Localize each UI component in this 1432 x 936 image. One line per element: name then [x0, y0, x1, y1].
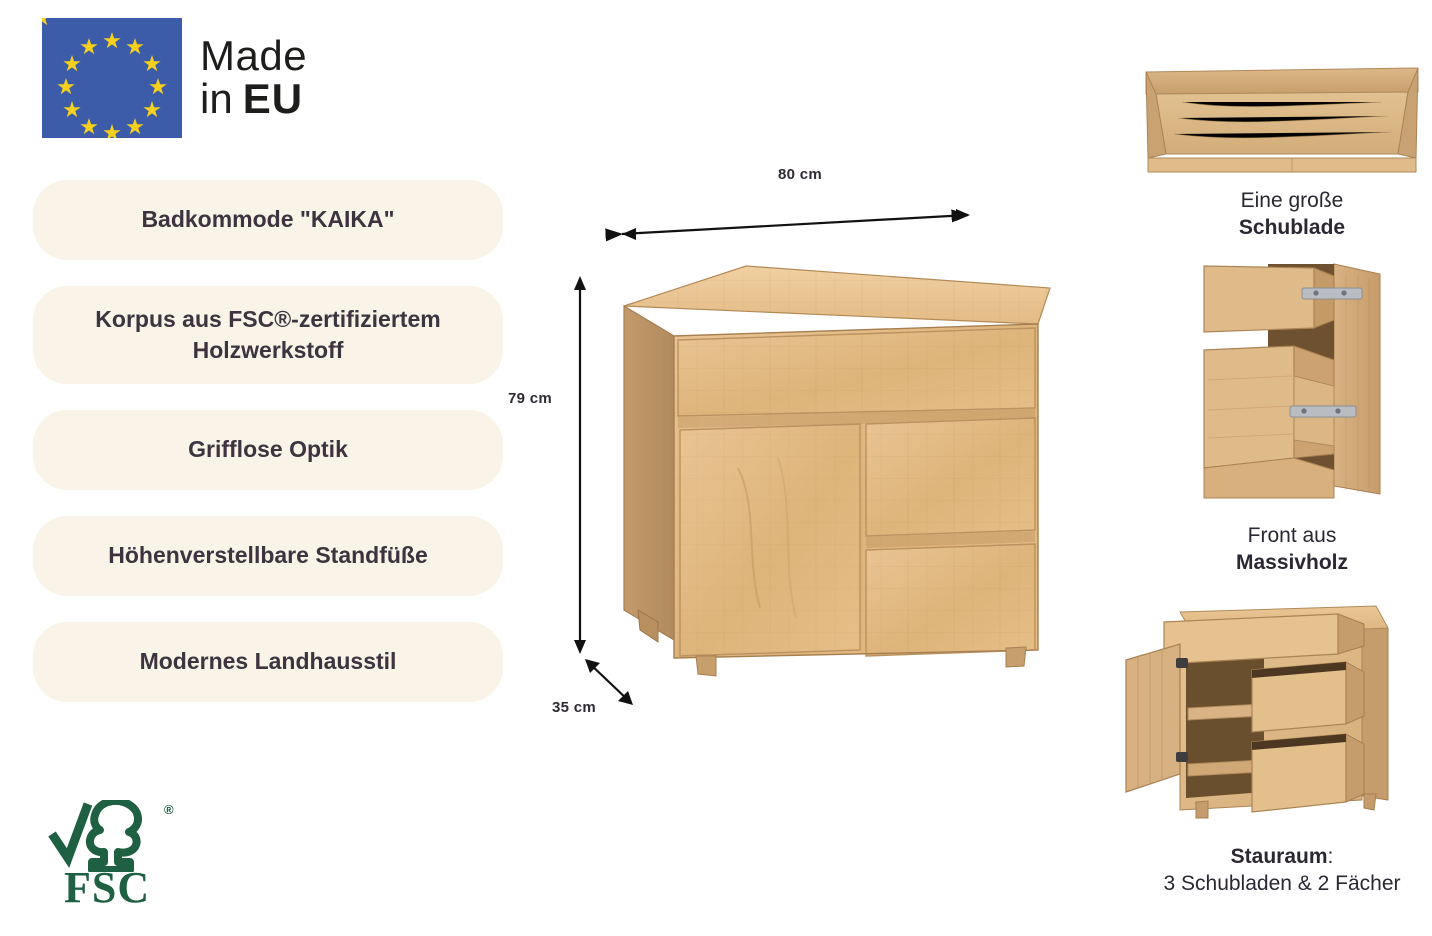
- made-in-eu-text: Made in EU: [200, 35, 307, 121]
- detail-caption: Stauraum: 3 Schubladen & 2 Fächer: [1132, 844, 1432, 898]
- feature-pill-list: Badkommode "KAIKA" Korpus aus FSC®-zerti…: [33, 180, 503, 702]
- dimension-height-label: 79 cm: [508, 390, 552, 407]
- feature-pill: Grifflose Optik: [33, 410, 503, 490]
- feature-pill: Korpus aus FSC®-zertifiziertem Holzwerks…: [33, 286, 503, 384]
- detail-caption-bold: Stauraum: [1231, 845, 1328, 868]
- feature-pill: Badkommode "KAIKA": [33, 180, 503, 260]
- cabinet-drawing: [618, 258, 1058, 678]
- eu-flag-icon: [42, 18, 182, 138]
- detail-caption-line1: Stauraum:: [1132, 844, 1432, 871]
- open-cabinet-storage-photo: [1124, 596, 1424, 828]
- made-in-eu-badge: Made in EU: [42, 18, 307, 138]
- detail-caption-colon: :: [1328, 845, 1334, 868]
- feature-pill-label: Grifflose Optik: [188, 434, 348, 465]
- drawer-runner-drawing: [1198, 258, 1386, 502]
- feature-pill-label: Höhenverstellbare Standfüße: [108, 540, 428, 571]
- fsc-logo: ® FSC: [46, 800, 206, 910]
- feature-pill: Modernes Landhausstil: [33, 622, 503, 702]
- made-label: Made: [200, 35, 307, 78]
- detail-caption-bold: Massivholz: [1142, 550, 1432, 577]
- infographic-canvas: Made in EU Badkommode "KAIKA" Korpus aus…: [0, 0, 1432, 936]
- feature-pill-label: Modernes Landhausstil: [140, 646, 397, 677]
- feature-pill-label: Korpus aus FSC®-zertifiziertem Holzwerks…: [59, 304, 477, 366]
- feature-pill: Höhenverstellbare Standfüße: [33, 516, 503, 596]
- eu-label: EU: [243, 78, 303, 121]
- dimension-depth-label: 35 cm: [552, 699, 596, 716]
- drawer-box-drawing: [1142, 62, 1422, 177]
- eu-stars-icon: [42, 18, 182, 138]
- fsc-wordmark: FSC: [64, 862, 150, 913]
- detail-caption-regular: Eine große: [1142, 188, 1432, 215]
- fsc-registered-icon: ®: [164, 802, 174, 817]
- open-drawer-box-photo: [1142, 62, 1422, 177]
- kaika-cabinet-photo: [618, 258, 1058, 678]
- feature-pill-label: Badkommode "KAIKA": [141, 204, 394, 235]
- dimension-width-label: 80 cm: [778, 166, 822, 183]
- in-label: in: [200, 78, 233, 121]
- detail-caption-regular: 3 Schubladen & 2 Fächer: [1132, 871, 1432, 898]
- detail-caption: Front aus Massivholz: [1142, 523, 1432, 577]
- detail-caption: Eine große Schublade: [1142, 188, 1432, 242]
- detail-caption-bold: Schublade: [1142, 215, 1432, 242]
- open-cabinet-drawing: [1124, 596, 1424, 828]
- drawer-runners-detail-photo: [1198, 258, 1386, 502]
- detail-caption-regular: Front aus: [1142, 523, 1432, 550]
